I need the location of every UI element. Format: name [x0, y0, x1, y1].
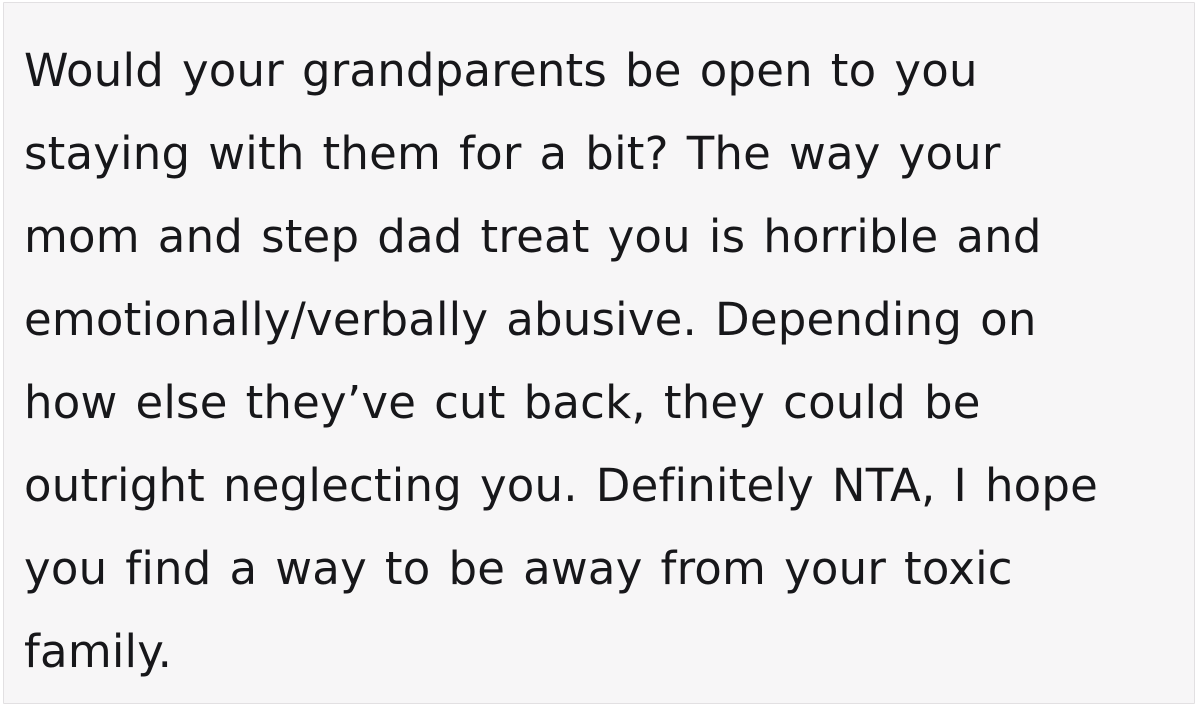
comment-line: mom and step dad treat you is horrible a… [24, 195, 1180, 278]
comment-line: you find a way to be away from your toxi… [24, 527, 1180, 610]
comment-line: emotionally/verbally abusive. Depending … [24, 278, 1180, 361]
comment-line: Would your grandparents be open to you [24, 29, 1180, 112]
comment-line: outright neglecting you. Definitely NTA,… [24, 444, 1180, 527]
comment-text-block: Would your grandparents be open to you s… [4, 3, 1194, 703]
comment-line: how else they’ve cut back, they could be [24, 361, 1180, 444]
comment-line: staying with them for a bit? The way you… [24, 112, 1180, 195]
comment-line: family. [24, 610, 1180, 693]
comment-card: Would your grandparents be open to you s… [3, 2, 1195, 704]
screenshot-root: Would your grandparents be open to you s… [0, 0, 1200, 708]
